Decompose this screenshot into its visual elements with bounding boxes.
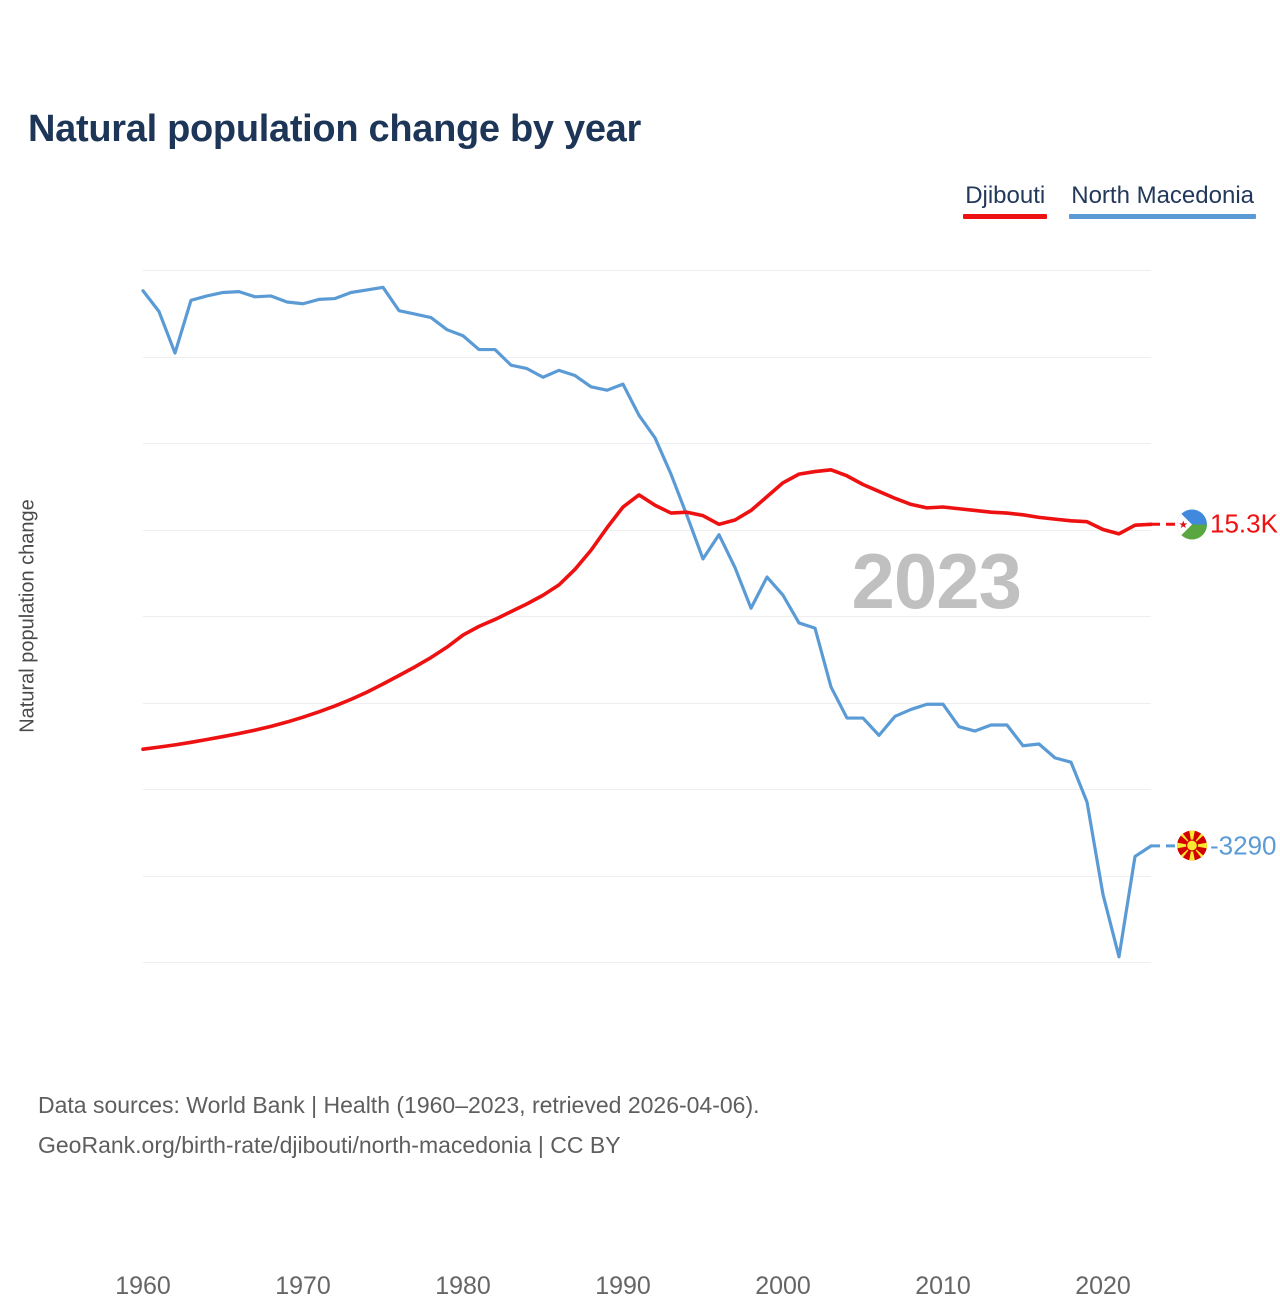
x-tick-label: 1960 [115, 1272, 171, 1301]
djibouti-flag-icon [1177, 509, 1207, 539]
x-tick-label: 2000 [755, 1272, 811, 1301]
legend-item-djibouti[interactable]: Djibouti [963, 182, 1047, 219]
series-lines [143, 270, 1151, 962]
footer-line-1: Data sources: World Bank | Health (1960–… [38, 1086, 760, 1126]
gridline [143, 962, 1151, 963]
line-north-macedonia [143, 287, 1151, 957]
endpoint-value-north-macedonia: -3290 [1210, 830, 1277, 861]
y-axis-label: Natural population change [17, 499, 40, 733]
legend-item-north-macedonia[interactable]: North Macedonia [1069, 182, 1256, 219]
x-tick-label: 1970 [275, 1272, 331, 1301]
footer-attribution: Data sources: World Bank | Health (1960–… [38, 1086, 760, 1165]
legend-swatch-djibouti [963, 214, 1047, 219]
x-tick-label: 2010 [915, 1272, 971, 1301]
legend-swatch-north-macedonia [1069, 214, 1256, 219]
chart-container: Natural population change by year Djibou… [0, 0, 1280, 1280]
chart-legend: Djibouti North Macedonia [963, 182, 1256, 219]
legend-label-djibouti: Djibouti [963, 182, 1047, 214]
legend-label-north-macedonia: North Macedonia [1069, 182, 1256, 214]
x-tick-label: 2020 [1075, 1272, 1131, 1301]
x-tick-label: 1990 [595, 1272, 651, 1301]
line-djibouti [143, 470, 1151, 749]
endpoint-djibouti[interactable]: 15.3K [1177, 509, 1278, 540]
footer-line-2: GeoRank.org/birth-rate/djibouti/north-ma… [38, 1126, 760, 1166]
endpoint-value-djibouti: 15.3K [1210, 509, 1278, 540]
page-title: Natural population change by year [28, 108, 641, 151]
endpoint-north-macedonia[interactable]: -3290 [1177, 830, 1277, 861]
north-macedonia-flag-icon [1177, 831, 1207, 861]
plot-area: 30K25K20K15K10K50000-5000-10K 1960197019… [143, 270, 1151, 962]
x-tick-label: 1980 [435, 1272, 491, 1301]
